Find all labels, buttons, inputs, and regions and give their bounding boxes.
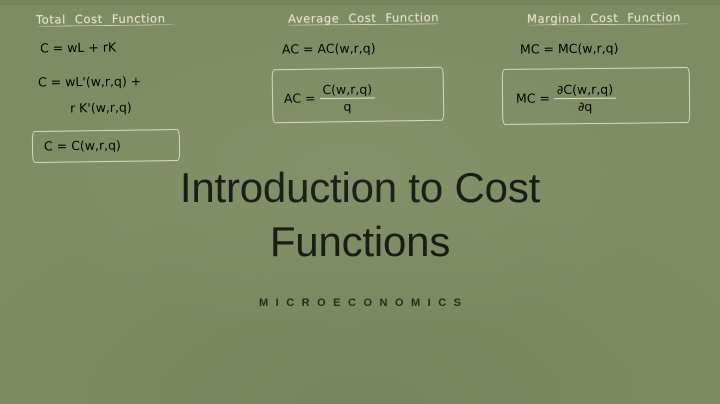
- average-cost-fraction: C(w,r,q) q: [319, 83, 375, 113]
- equation-marginal-cost-boxed: MC = ∂C(w,r,q) ∂q: [516, 84, 616, 115]
- equation-total-cost-1: C = wL + rK: [40, 39, 116, 55]
- average-cost-lhs: AC =: [284, 91, 316, 106]
- page-title: Introduction to Cost Functions: [0, 161, 720, 269]
- fraction-denominator: ∂q: [554, 99, 616, 113]
- equation-average-cost-boxed: AC = C(w,r,q) q: [284, 84, 376, 115]
- fraction-numerator: C(w,r,q): [319, 83, 375, 97]
- fraction-numerator: ∂C(w,r,q): [554, 83, 616, 97]
- equation-marginal-cost-1: MC = MC(w,r,q): [520, 40, 619, 56]
- heading-word: Function: [385, 10, 439, 25]
- slide-canvas: TotalCostFunction C = wL + rK C = wL'(w,…: [0, 0, 720, 404]
- equation-total-cost-boxed: C = C(w,r,q): [44, 138, 121, 154]
- equation-average-cost-1: AC = AC(w,r,q): [282, 40, 376, 56]
- page-subtitle: MICROECONOMICS: [0, 297, 720, 309]
- heading-word: Total: [36, 12, 66, 26]
- marginal-cost-fraction: ∂C(w,r,q) ∂q: [554, 83, 616, 113]
- fraction-denominator: q: [320, 99, 376, 113]
- page-title-line-1: Introduction to Cost: [0, 161, 720, 215]
- slide-top-edge: [0, 0, 720, 5]
- heading-word: Function: [627, 10, 681, 25]
- marginal-cost-lhs: MC =: [516, 91, 550, 106]
- equation-total-cost-3: r K'(w,r,q): [70, 100, 132, 116]
- equation-total-cost-2: C = wL'(w,r,q) +: [38, 73, 141, 89]
- page-title-line-2: Functions: [0, 215, 720, 269]
